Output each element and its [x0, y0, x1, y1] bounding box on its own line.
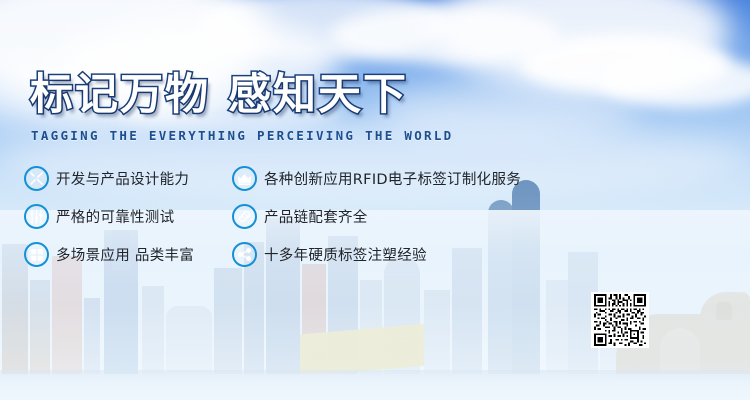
tools-icon [24, 166, 49, 191]
feature-item-multi-scenario[interactable]: 多场景应用 品类丰富 [24, 242, 232, 267]
headline-part-2: 感知天下 [228, 70, 408, 120]
feature-row: 严格的可靠性测试 产品链配套齐全 [24, 204, 584, 242]
feature-label: 产品链配套齐全 [264, 206, 368, 227]
feature-item-product-chain[interactable]: 产品链配套齐全 [232, 204, 582, 229]
feature-label: 十多年硬质标签注塑经验 [264, 244, 427, 265]
page-subtitle: TAGGING THE EVERYTHING PERCEIVING THE WO… [31, 128, 454, 143]
feature-label: 各种创新应用RFID电子标签订制化服务 [264, 168, 521, 189]
grid-icon [24, 242, 49, 267]
qr-code-image [593, 294, 647, 346]
feature-label: 开发与产品设计能力 [56, 168, 189, 189]
page-title: 标记万物感知天下 [30, 74, 408, 117]
feature-label: 多场景应用 品类丰富 [56, 244, 194, 265]
feature-item-reliability-test[interactable]: 严格的可靠性测试 [24, 204, 232, 229]
feature-list: 开发与产品设计能力 各种创新应用RFID电子标签订制化服务 [24, 166, 584, 280]
qr-code[interactable] [591, 292, 649, 348]
feature-row: 开发与产品设计能力 各种创新应用RFID电子标签订制化服务 [24, 166, 584, 204]
feature-item-development[interactable]: 开发与产品设计能力 [24, 166, 232, 191]
crown-icon [232, 166, 257, 191]
share-icon [232, 242, 257, 267]
promo-banner: 标记万物感知天下 TAGGING THE EVERYTHING PERCEIVI… [0, 0, 750, 400]
sliders-icon [24, 204, 49, 229]
link-icon [232, 204, 257, 229]
headline-part-1: 标记万物 [30, 70, 210, 120]
waterfront [0, 374, 750, 400]
feature-label: 严格的可靠性测试 [56, 206, 174, 227]
feature-item-rfid-custom[interactable]: 各种创新应用RFID电子标签订制化服务 [232, 166, 582, 191]
feature-row: 多场景应用 品类丰富 十多年硬质标签注塑经验 [24, 242, 584, 280]
feature-item-molding-experience[interactable]: 十多年硬质标签注塑经验 [232, 242, 582, 267]
